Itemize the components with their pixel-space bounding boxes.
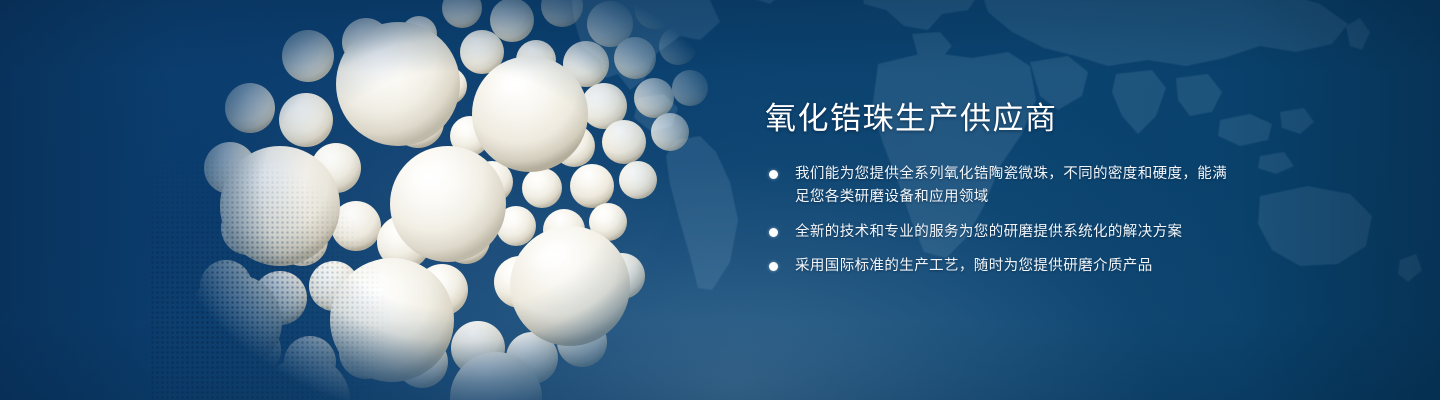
banner-bullet-list: 我们能为您提供全系列氧化锆陶瓷微珠，不同的密度和硬度，能满足您各类研磨设备和应用…: [765, 163, 1235, 279]
bullet-dot-icon: [769, 170, 778, 179]
bullet-dot-icon: [769, 262, 778, 271]
bullet-text-2: 全新的技术和专业的服务为您的研磨提供系统化的解决方案: [795, 224, 1182, 240]
banner-copy: 氧化锆珠生产供应商 我们能为您提供全系列氧化锆陶瓷微珠，不同的密度和硬度，能满足…: [765, 100, 1235, 279]
bullet-item-2: 全新的技术和专业的服务为您的研磨提供系统化的解决方案: [765, 221, 1235, 244]
bullet-item-1: 我们能为您提供全系列氧化锆陶瓷微珠，不同的密度和硬度，能满足您各类研磨设备和应用…: [765, 163, 1235, 210]
banner-headline: 氧化锆珠生产供应商: [765, 100, 1235, 139]
bullet-item-3: 采用国际标准的生产工艺，随时为您提供研磨介质产品: [765, 255, 1235, 278]
bullet-text-1: 我们能为您提供全系列氧化锆陶瓷微珠，不同的密度和硬度，能满足您各类研磨设备和应用…: [795, 166, 1227, 205]
bullet-text-3: 采用国际标准的生产工艺，随时为您提供研磨介质产品: [795, 258, 1153, 274]
bullet-dot-icon: [769, 228, 778, 237]
hero-banner: 氧化锆珠生产供应商 我们能为您提供全系列氧化锆陶瓷微珠，不同的密度和硬度，能满足…: [0, 0, 1440, 400]
